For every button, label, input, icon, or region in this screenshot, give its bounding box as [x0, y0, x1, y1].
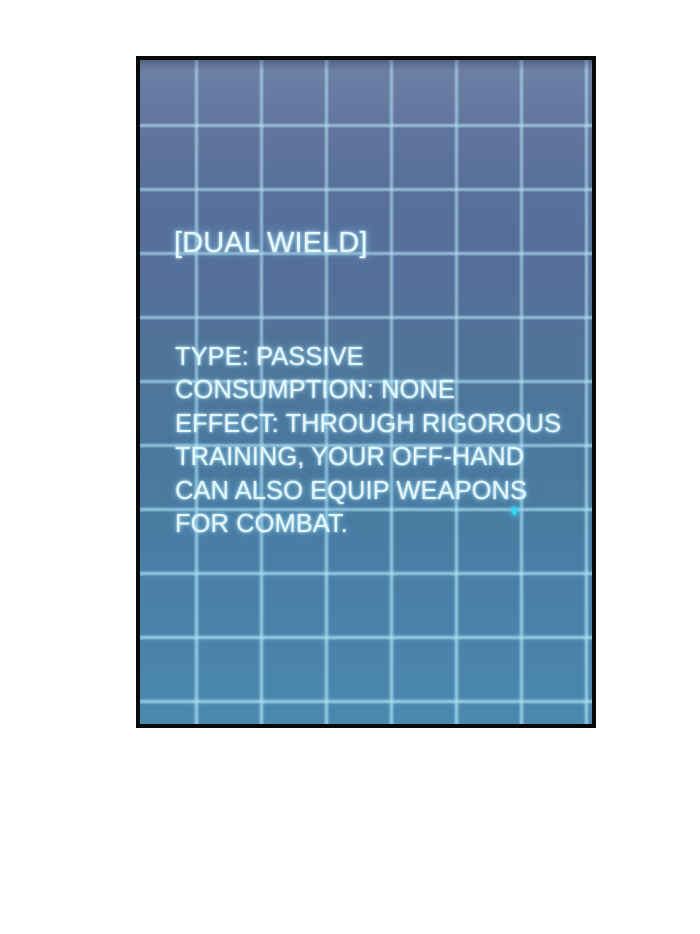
panel-background-gradient	[140, 60, 592, 724]
skill-status-panel: [DUAL WIELD] TYPE: PASSIVE CONSUMPTION: …	[136, 56, 596, 728]
